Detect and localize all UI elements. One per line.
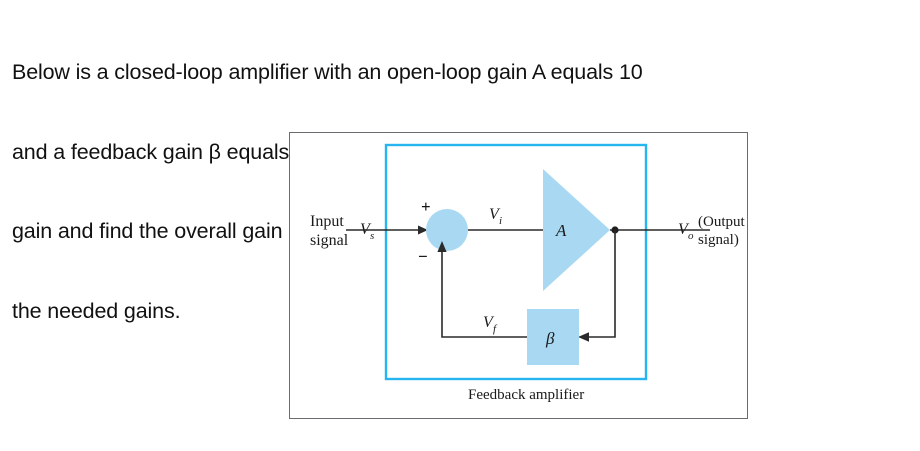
vs-label-subscript: s [370,230,374,242]
feedback-amplifier-figure: + − Input signal V s V i A β [289,132,748,419]
feedback-gain-label: β [545,329,555,348]
vf-label-subscript: f [493,323,498,335]
figure-caption: Feedback amplifier [468,387,584,403]
output-signal-label-line1: (Output [698,214,745,230]
summing-node [426,209,468,251]
beta-input-arrowhead [578,332,589,341]
question-line-1: Below is a closed-loop amplifier with an… [12,59,912,86]
amplifier-triangle [543,169,610,291]
figure-svg: + − Input signal V s V i A β [290,133,746,417]
question-line-3-part-a: gain and find the overall gain (V [12,219,309,243]
vo-label-subscript: o [688,230,694,242]
output-signal-label-line2: signal) [698,232,739,248]
vi-label-subscript: i [499,215,502,227]
input-signal-label-line2: signal [310,232,349,249]
amplifier-gain-label: A [555,221,567,240]
minus-sign-label: − [418,247,428,266]
plus-sign-label: + [421,197,431,216]
input-signal-label-line1: Input [310,213,344,230]
